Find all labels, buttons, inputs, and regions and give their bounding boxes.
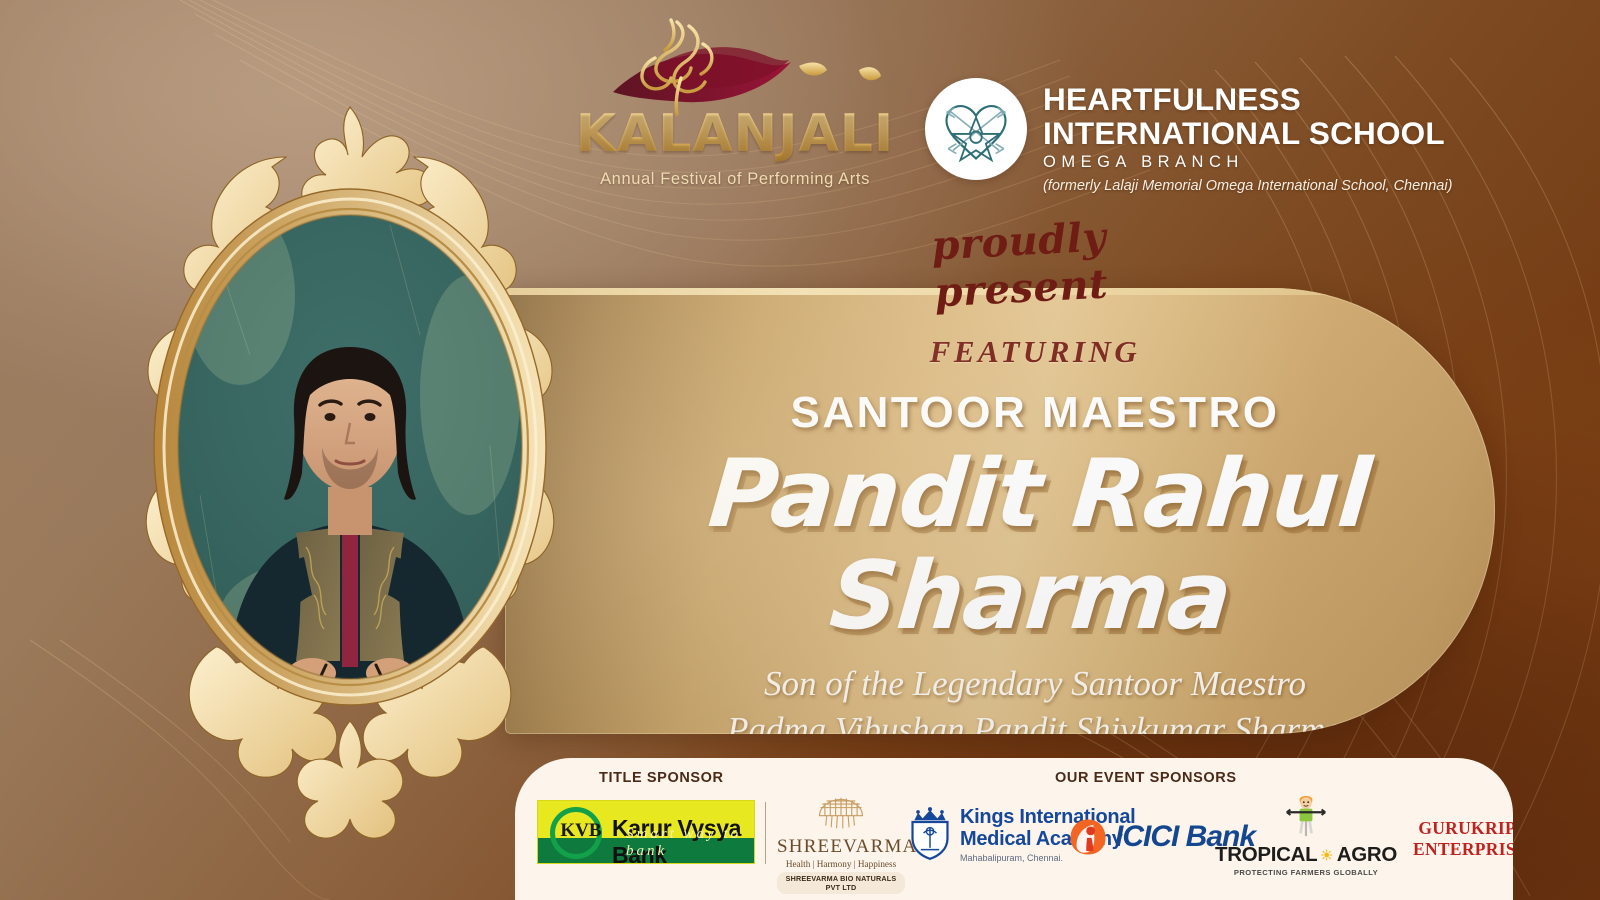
sun-icon — [1321, 845, 1332, 865]
shreevarma-name: SHREEVARMA — [777, 836, 905, 858]
tropical-name-part-1: TROPICAL — [1215, 843, 1317, 867]
tropical-tagline: PROTECTING FARMERS GLOBALLY — [1215, 868, 1397, 877]
tropical-agro-scarecrow-icon — [1284, 792, 1328, 838]
gurukripa-name-line-1: GURUKRIPA — [1413, 818, 1513, 839]
sponsor-logo-gurukripa-enterprises[interactable]: GURUKRIPA ENTERPRISES — [1413, 818, 1513, 859]
kvb-abbreviation: KVB — [556, 820, 606, 842]
kalanjali-logo-block: KALANJALI Annual Festival of Performing … — [570, 18, 900, 189]
gurukripa-name-line-2: ENTERPRISES — [1413, 839, 1513, 860]
kings-crest-icon — [907, 807, 953, 861]
event-sponsors-heading: OUR EVENT SPONSORS — [1055, 770, 1237, 786]
shreevarma-tree-icon — [814, 796, 868, 830]
school-former-name: (formerly Lalaji Memorial Omega Internat… — [1043, 178, 1452, 194]
proudly-present-script: proudly present — [858, 210, 1182, 321]
sponsor-logo-shreevarma[interactable]: SHREEVARMA Health | Harmony | Happiness … — [777, 796, 905, 894]
school-branch-label: OMEGA BRANCH — [1043, 153, 1452, 172]
featuring-label: FEATURING — [665, 334, 1405, 370]
kalanjali-tagline: Annual Festival of Performing Arts — [570, 170, 900, 189]
school-name-line-2: INTERNATIONAL SCHOOL — [1043, 116, 1452, 150]
shreevarma-tagline: Health | Harmony | Happiness — [777, 859, 905, 869]
main-content-panel: FEATURING SANTOOR MAESTRO Pandit Rahul S… — [505, 288, 1495, 734]
portrait-frame — [90, 95, 610, 840]
sponsor-divider — [765, 802, 766, 864]
artist-name: Pandit Rahul Sharma — [656, 444, 1414, 647]
artist-subtitle-line-1: Son of the Legendary Santoor Maestro — [665, 661, 1405, 707]
kalanjali-dancer-logo-icon — [570, 18, 900, 110]
sponsor-logo-karur-vysya-bank[interactable]: KVB Karur Vysya Bank Smart way to bank — [537, 800, 755, 864]
sponsors-panel: TITLE SPONSOR OUR EVENT SPONSORS KVB Kar… — [515, 758, 1513, 900]
tropical-name-part-2: AGRO — [1337, 843, 1397, 867]
ornate-gold-oval-frame-icon — [90, 95, 610, 840]
sponsor-logo-tropical-agro[interactable]: TROPICAL AGRO PROTECTING FARMERS GLOBALL… — [1215, 792, 1397, 877]
kvb-tagline: Smart way to bank — [626, 826, 754, 860]
school-logo-block: HEARTFULNESS INTERNATIONAL SCHOOL OMEGA … — [925, 78, 1452, 194]
title-sponsor-heading: TITLE SPONSOR — [599, 770, 724, 786]
shreevarma-legal-name: SHREEVARMA BIO NATURALS PVT LTD — [777, 872, 905, 894]
icici-i-logo-icon — [1067, 816, 1109, 858]
heartfulness-heart-star-logo-icon — [925, 78, 1027, 180]
event-poster: FEATURING SANTOOR MAESTRO Pandit Rahul S… — [0, 0, 1600, 900]
school-name-line-1: HEARTFULNESS — [1043, 82, 1452, 116]
artist-role-title: SANTOOR MAESTRO — [665, 388, 1405, 438]
artist-subtitle-line-2: Padma Vibushan Pandit Shivkumar Sharma — [665, 707, 1405, 734]
